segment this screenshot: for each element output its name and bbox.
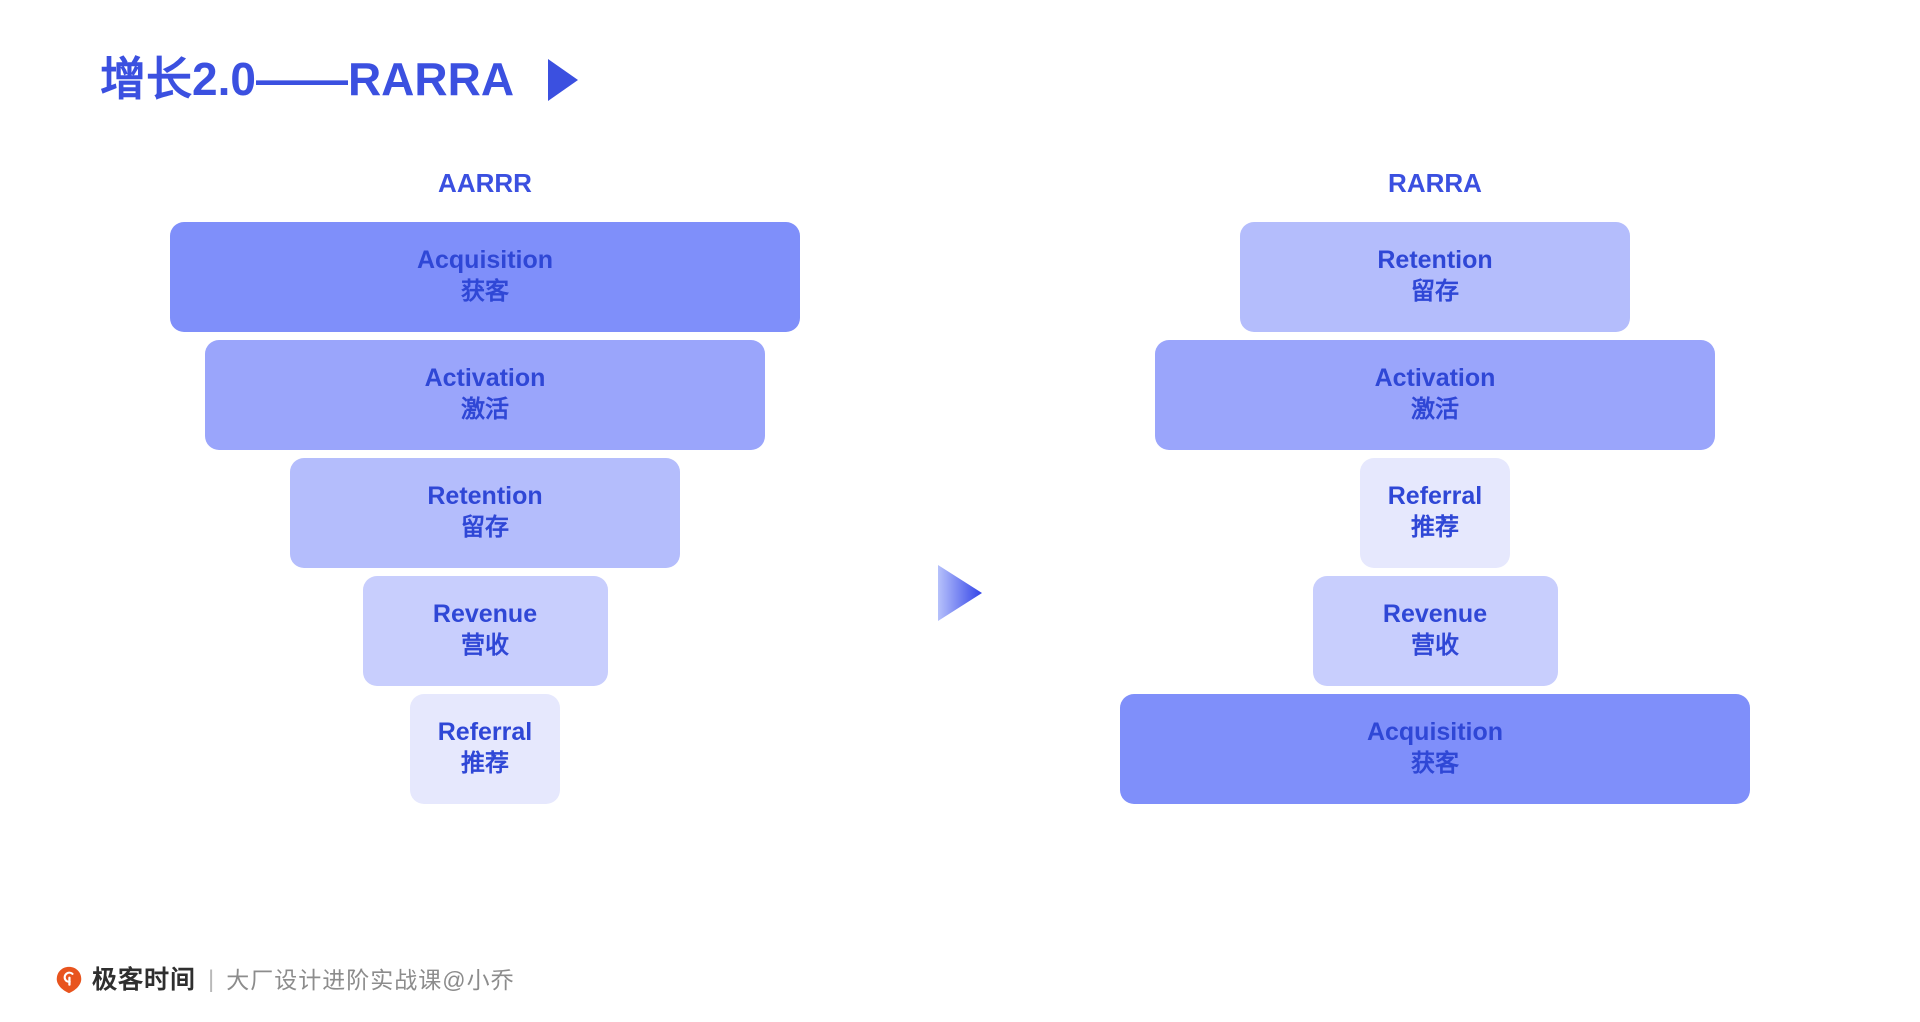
stage-label-cn: 获客 — [1411, 748, 1459, 780]
play-triangle-gradient-icon — [938, 565, 982, 621]
stage-label-en: Revenue — [433, 599, 537, 630]
stage-label-cn: 获客 — [461, 276, 509, 308]
stage-label-en: Referral — [1388, 481, 1483, 512]
funnel-aarrr: AARRR Acquisition 获客 Activation 激活 Reten… — [100, 170, 870, 804]
funnel-rarra-title: RARRA — [1388, 170, 1482, 196]
stage-label-cn: 推荐 — [1411, 512, 1459, 544]
funnel-comparison: AARRR Acquisition 获客 Activation 激活 Reten… — [0, 0, 1920, 1022]
stage-label-en: Acquisition — [1367, 717, 1503, 748]
funnel-stage-referral[interactable]: Referral 推荐 — [1360, 458, 1510, 568]
stage-label-en: Activation — [425, 363, 546, 394]
stage-label-en: Referral — [438, 717, 533, 748]
funnel-aarrr-title: AARRR — [438, 170, 532, 196]
funnel-aarrr-bars: Acquisition 获客 Activation 激活 Retention 留… — [100, 222, 870, 804]
stage-label-cn: 营收 — [1411, 630, 1459, 662]
funnel-stage-acquisition[interactable]: Acquisition 获客 — [170, 222, 800, 332]
funnel-stage-revenue[interactable]: Revenue 营收 — [363, 576, 608, 686]
stage-label-cn: 推荐 — [461, 748, 509, 780]
stage-label-en: Retention — [1377, 245, 1492, 276]
funnel-stage-activation[interactable]: Activation 激活 — [205, 340, 765, 450]
funnel-stage-retention[interactable]: Retention 留存 — [290, 458, 680, 568]
stage-label-cn: 激活 — [1411, 394, 1459, 426]
stage-label-cn: 留存 — [461, 512, 509, 544]
stage-label-en: Acquisition — [417, 245, 553, 276]
footer-divider: | — [208, 968, 214, 992]
funnel-stage-acquisition[interactable]: Acquisition 获客 — [1120, 694, 1750, 804]
funnel-rarra-bars: Retention 留存 Activation 激活 Referral 推荐 R… — [1050, 222, 1820, 804]
funnel-stage-retention[interactable]: Retention 留存 — [1240, 222, 1630, 332]
funnel-stage-referral[interactable]: Referral 推荐 — [410, 694, 560, 804]
stage-label-en: Activation — [1375, 363, 1496, 394]
stage-label-cn: 激活 — [461, 394, 509, 426]
geekbang-logo-icon — [55, 966, 83, 994]
stage-label-cn: 留存 — [1411, 276, 1459, 308]
stage-label-cn: 营收 — [461, 630, 509, 662]
funnel-stage-revenue[interactable]: Revenue 营收 — [1313, 576, 1558, 686]
brand-name: 极客时间 — [92, 968, 196, 993]
course-name: 大厂设计进阶实战课@小乔 — [226, 969, 514, 992]
stage-label-en: Retention — [427, 481, 542, 512]
footer-watermark: 极客时间 | 大厂设计进阶实战课@小乔 — [55, 966, 515, 994]
funnel-stage-activation[interactable]: Activation 激活 — [1155, 340, 1715, 450]
funnel-rarra: RARRA Retention 留存 Activation 激活 Referra… — [1050, 170, 1820, 804]
stage-label-en: Revenue — [1383, 599, 1487, 630]
